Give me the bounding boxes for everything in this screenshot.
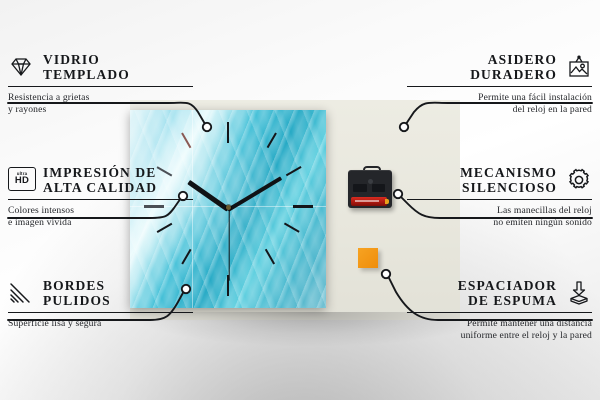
callout-subtitle-line1: Superficie lisa y segura xyxy=(8,318,101,329)
callout-divider xyxy=(407,86,592,87)
callout-title-line2: DURADERO xyxy=(470,67,557,82)
callout-subtitle-line1: Resistencia a grietas xyxy=(8,92,89,103)
callout-tempered-glass[interactable]: VIDRIO TEMPLADO Resistencia a grietas y … xyxy=(8,52,193,116)
gear-icon xyxy=(566,167,592,193)
battery-label xyxy=(355,200,379,202)
callout-subtitle-line1: Las manecillas del reloj xyxy=(497,205,592,216)
battery xyxy=(351,197,387,206)
callout-title-line1: ESPACIADOR xyxy=(458,278,557,293)
callout-hanger[interactable]: ASIDERO DURADERO Permite una fácil insta… xyxy=(407,52,592,116)
callout-divider xyxy=(8,86,193,87)
callout-subtitle-line2: e imagen vívida xyxy=(8,217,72,228)
mechanism-slot-left xyxy=(353,184,367,192)
callout-title-line1: VIDRIO xyxy=(43,52,100,67)
callout-divider xyxy=(407,312,592,313)
callout-subtitle-line1: Colores intensos xyxy=(8,205,74,216)
callout-subtitle-line1: Permite mantener una distancia xyxy=(467,318,592,329)
clock-second-hand xyxy=(228,209,229,281)
callout-subtitle-line2: del reloj en la pared xyxy=(513,104,592,115)
callout-title-line2: DE ESPUMA xyxy=(468,293,557,308)
callout-title-line1: BORDES xyxy=(43,278,105,293)
mechanism-body xyxy=(348,170,392,208)
clock-mechanism xyxy=(348,166,392,208)
callout-subtitle-line1: Permite una fácil instalación xyxy=(478,92,592,103)
callout-title-line2: TEMPLADO xyxy=(43,67,130,82)
product-infographic: VIDRIO TEMPLADO Resistencia a grietas y … xyxy=(0,0,600,400)
mechanism-slot-right xyxy=(372,184,385,192)
callout-subtitle-line2: y rayones xyxy=(8,104,46,115)
ultra-hd-icon-main-text: HD xyxy=(15,176,29,186)
callout-divider xyxy=(407,199,592,200)
callout-title-line2: ALTA CALIDAD xyxy=(43,180,157,195)
callout-subtitle-line2: no emiten ningún sonido xyxy=(493,217,592,228)
clock-center-hub xyxy=(226,205,231,210)
callout-title-line1: IMPRESIÓN DE xyxy=(43,165,156,180)
callout-divider xyxy=(8,312,193,313)
callout-mechanism[interactable]: MECANISMO SILENCIOSO Las manecillas del … xyxy=(407,165,592,229)
callout-divider xyxy=(8,199,193,200)
foam-spacer xyxy=(358,248,378,268)
picture-hanger-icon xyxy=(566,54,592,80)
callout-title-line2: PULIDOS xyxy=(43,293,111,308)
callout-hd-print[interactable]: ultra HD IMPRESIÓN DE ALTA CALIDAD Color… xyxy=(8,165,193,229)
ultra-hd-icon: ultra HD xyxy=(8,167,34,193)
callout-polished-edges[interactable]: BORDES PULIDOS Superficie lisa y segura xyxy=(8,278,193,330)
callout-subtitle-line2: uniforme entre el reloj y la pared xyxy=(461,330,592,341)
callout-title-line1: MECANISMO xyxy=(460,165,557,180)
callout-foam-spacer[interactable]: ESPACIADOR DE ESPUMA Permite mantener un… xyxy=(407,278,592,342)
callout-title-line1: ASIDERO xyxy=(488,52,557,67)
polished-edges-icon xyxy=(8,280,34,306)
callout-title-line2: SILENCIOSO xyxy=(462,180,557,195)
diamond-icon xyxy=(8,54,34,80)
foam-spacer-icon xyxy=(566,280,592,306)
